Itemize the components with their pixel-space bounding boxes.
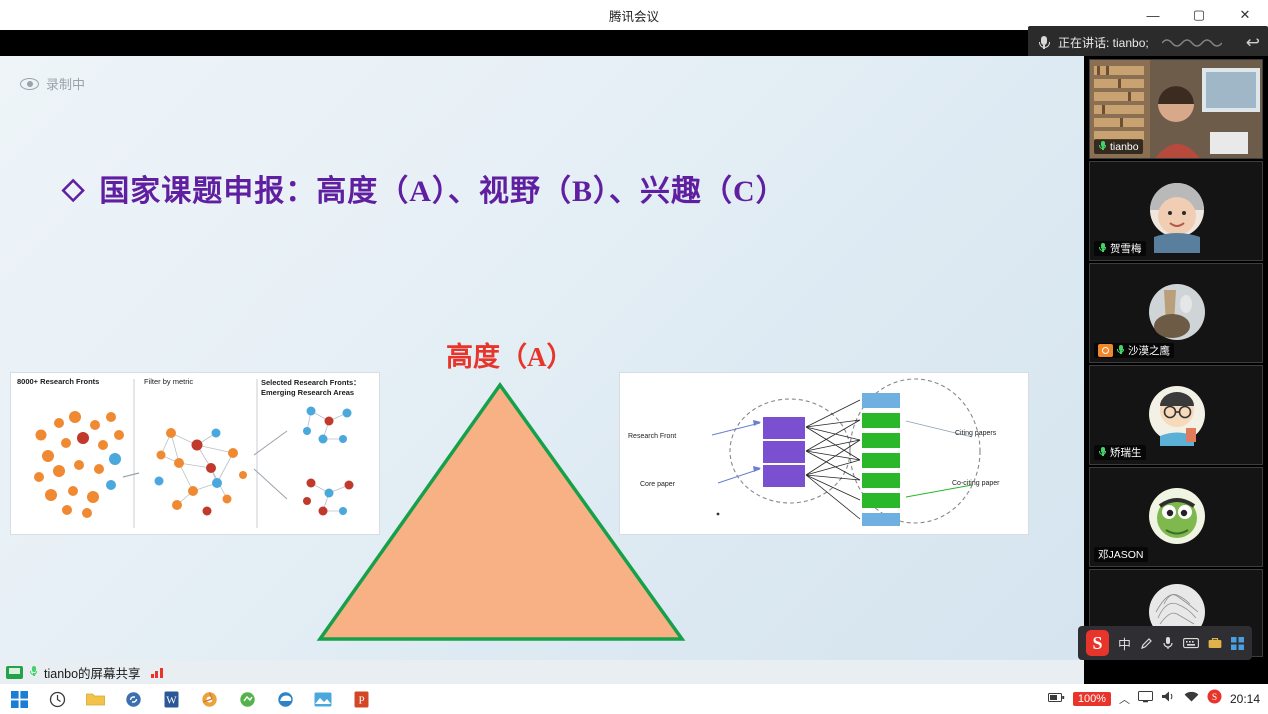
left-figure: 8000+ Research Fronts Filter by metric S… <box>10 372 380 535</box>
cortana-search-icon[interactable] <box>38 684 76 714</box>
audio-waveform-icon <box>1155 36 1240 50</box>
file-explorer-icon[interactable] <box>76 684 114 714</box>
microphone-icon <box>29 666 38 678</box>
participant-name-bar-4: 邓JASON <box>1094 547 1148 562</box>
system-tray[interactable]: 100% ︿ S 20:14 <box>1048 689 1268 709</box>
ime-keyboard-icon[interactable] <box>1183 637 1199 649</box>
recording-indicator: 录制中 <box>20 74 85 93</box>
right-figure: Research Front Core paper Citing papers … <box>619 372 1029 535</box>
sogou-logo-icon[interactable]: S <box>1086 630 1109 656</box>
taskbar-icons[interactable]: W P <box>0 684 380 714</box>
microphone-icon <box>1098 141 1107 153</box>
ime-mic-icon[interactable] <box>1162 636 1174 650</box>
windows-start-icon[interactable] <box>0 684 38 714</box>
ime-pen-icon[interactable] <box>1140 637 1153 650</box>
microphone-icon <box>1036 35 1052 51</box>
share-label: tianbo的屏幕共享 <box>44 663 141 682</box>
back-arrow-icon[interactable]: ↩ <box>1246 33 1260 53</box>
microphone-icon <box>1098 447 1107 459</box>
window-title: 腾讯会议 <box>609 6 659 25</box>
participant-name-bar-3: 矫瑞生 <box>1094 445 1146 460</box>
svg-text:W: W <box>166 694 177 706</box>
participant-tile-4[interactable]: 邓JASON <box>1089 467 1263 567</box>
shared-screen-area: 录制中 ◇ 国家课题申报：高度（A）、视野（B）、兴趣（C） 高度（A） 视野（… <box>0 56 1084 660</box>
participant-name-0: tianbo <box>1110 141 1139 153</box>
screen-share-bar[interactable]: tianbo的屏幕共享 <box>0 660 1084 684</box>
microphone-icon <box>1116 345 1125 357</box>
speaker-icon[interactable] <box>1161 690 1176 708</box>
participant-tile-0[interactable]: tianbo <box>1089 59 1263 159</box>
slide-title-text: 国家课题申报：高度（A）、视野（B）、兴趣（C） <box>99 166 786 210</box>
word-icon[interactable]: W <box>152 684 190 714</box>
powerpoint-icon[interactable]: P <box>342 684 380 714</box>
eye-icon <box>20 78 39 90</box>
participant-name-bar-2: 沙漠之鹰 <box>1094 343 1174 358</box>
clock[interactable]: 20:14 <box>1230 693 1260 706</box>
participant-name-1: 贺雪梅 <box>1110 241 1142 256</box>
participant-name-bar-1: 贺雪梅 <box>1094 241 1146 256</box>
link-icon[interactable] <box>114 684 152 714</box>
zoom-level-badge[interactable]: 100% <box>1073 692 1111 706</box>
right-figure-caption-3: Co-citing paper <box>952 480 999 487</box>
participant-name-3: 矫瑞生 <box>1110 445 1142 460</box>
input-method-bar[interactable]: S 中 <box>1078 626 1252 660</box>
edge-icon[interactable] <box>266 684 304 714</box>
sogou-icon[interactable]: S <box>1207 689 1222 709</box>
ime-toolbox-icon[interactable] <box>1208 637 1222 649</box>
left-figure-caption-0: 8000+ Research Fronts <box>17 377 99 386</box>
store-icon[interactable] <box>228 684 266 714</box>
slide-title: ◇ 国家课题申报：高度（A）、视野（B）、兴趣（C） <box>62 166 787 210</box>
photos-icon[interactable] <box>304 684 342 714</box>
battery-icon[interactable] <box>1048 690 1065 708</box>
left-figure-caption-2: Selected Research Fronts： <box>261 377 361 388</box>
label-height-a: 高度（A） <box>446 335 574 374</box>
network-icon[interactable] <box>1184 690 1199 708</box>
diamond-bullet-icon: ◇ <box>62 171 85 206</box>
browser-icon[interactable] <box>190 684 228 714</box>
windows-taskbar[interactable]: W P 100% ︿ <box>0 684 1268 714</box>
right-figure-caption-0: Research Front <box>628 433 676 440</box>
participant-name-2: 沙漠之鹰 <box>1128 343 1170 358</box>
svg-text:S: S <box>1212 693 1217 703</box>
speaking-indicator[interactable]: 正在讲话: tianbo; ↩ <box>1028 26 1268 59</box>
signal-bars-icon <box>151 666 163 678</box>
chevron-up-icon[interactable]: ︿ <box>1119 691 1130 707</box>
participant-tile-1[interactable]: 贺雪梅 <box>1089 161 1263 261</box>
speaking-label: 正在讲话: tianbo; <box>1058 34 1149 51</box>
display-icon[interactable] <box>1138 690 1153 708</box>
participant-rail[interactable]: tianbo 贺雪梅 <box>1084 56 1268 660</box>
participant-tile-2[interactable]: 沙漠之鹰 <box>1089 263 1263 363</box>
svg-text:P: P <box>358 694 364 706</box>
right-figure-caption-2: Citing papers <box>955 430 996 437</box>
right-figure-caption-1: Core paper <box>640 481 675 488</box>
participant-name-bar-0: tianbo <box>1094 139 1143 154</box>
recording-label: 录制中 <box>46 74 85 93</box>
left-figure-caption-1: Filter by metric <box>144 377 193 386</box>
participant-name-4: 邓JASON <box>1098 547 1144 562</box>
screen-share-icon <box>6 666 23 679</box>
host-badge-icon <box>1098 344 1113 357</box>
participant-tile-3[interactable]: 矫瑞生 <box>1089 365 1263 465</box>
ime-language-toggle[interactable]: 中 <box>1118 634 1131 653</box>
app-window: 腾讯会议 — ▢ ✕ 正在讲话: tianbo; ↩ 录制中 ◇ 国家课题申报：… <box>0 0 1268 714</box>
ime-grid-icon[interactable] <box>1231 637 1244 650</box>
left-figure-caption-3: Emerging Research Areas <box>261 388 354 397</box>
microphone-icon <box>1098 243 1107 255</box>
